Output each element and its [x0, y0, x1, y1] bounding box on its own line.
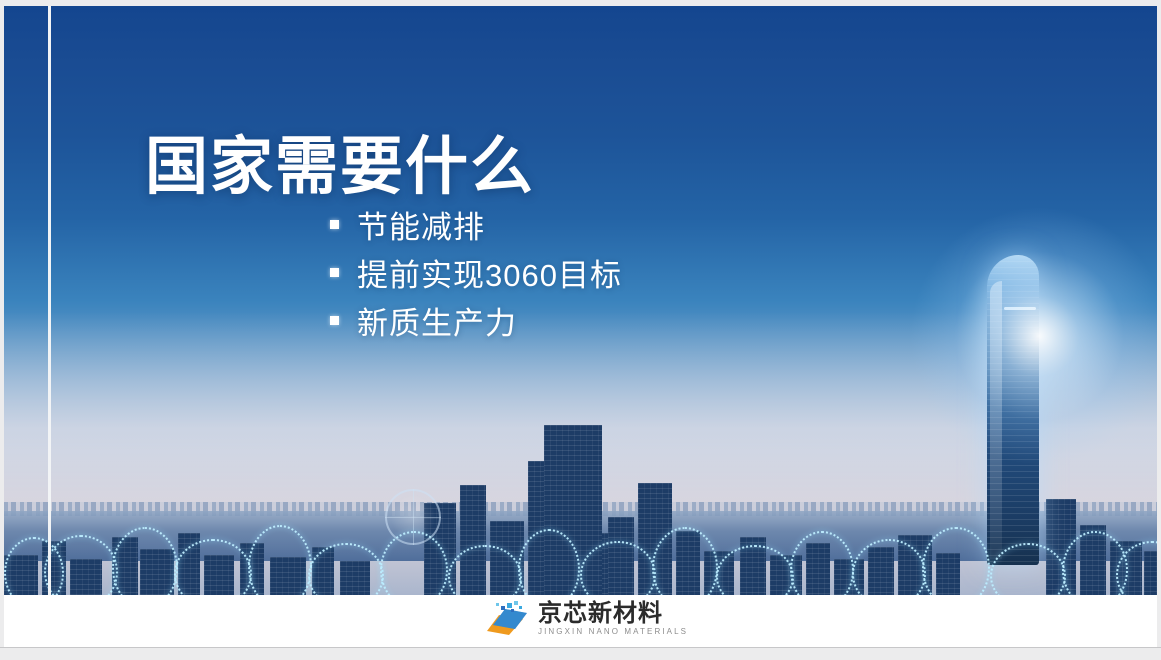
- bottom-frame-line: [0, 647, 1161, 648]
- bullet-item: 节能减排: [330, 200, 622, 248]
- slide-footer: 京芯新材料 JINGXIN NANO MATERIALS: [4, 595, 1157, 647]
- slide-background-image: 国家需要什么 节能减排 提前实现3060目标 新质生产力: [4, 6, 1157, 595]
- landmark-tower: [987, 255, 1039, 565]
- bullet-text: 节能减排: [357, 202, 485, 247]
- logo-mark-icon: [483, 601, 529, 637]
- company-logo: 京芯新材料 JINGXIN NANO MATERIALS: [483, 601, 688, 637]
- left-vertical-divider: [48, 6, 51, 595]
- logo-text-block: 京芯新材料 JINGXIN NANO MATERIALS: [538, 601, 688, 637]
- bullet-item: 提前实现3060目标: [330, 248, 622, 296]
- slide-bullet-list: 节能减排 提前实现3060目标 新质生产力: [330, 200, 622, 344]
- square-bullet-icon: [330, 316, 339, 325]
- logo-name-cn: 京芯新材料: [538, 601, 688, 626]
- bullet-text: 提前实现3060目标: [357, 250, 622, 295]
- square-bullet-icon: [330, 268, 339, 277]
- tower-light-band: [1004, 307, 1036, 310]
- bullet-text: 新质生产力: [357, 298, 517, 343]
- presentation-slide: 国家需要什么 节能减排 提前实现3060目标 新质生产力: [4, 6, 1157, 647]
- bullet-item: 新质生产力: [330, 296, 622, 344]
- square-bullet-icon: [330, 220, 339, 229]
- logo-name-en: JINGXIN NANO MATERIALS: [538, 627, 688, 637]
- slide-title: 国家需要什么: [145, 132, 535, 203]
